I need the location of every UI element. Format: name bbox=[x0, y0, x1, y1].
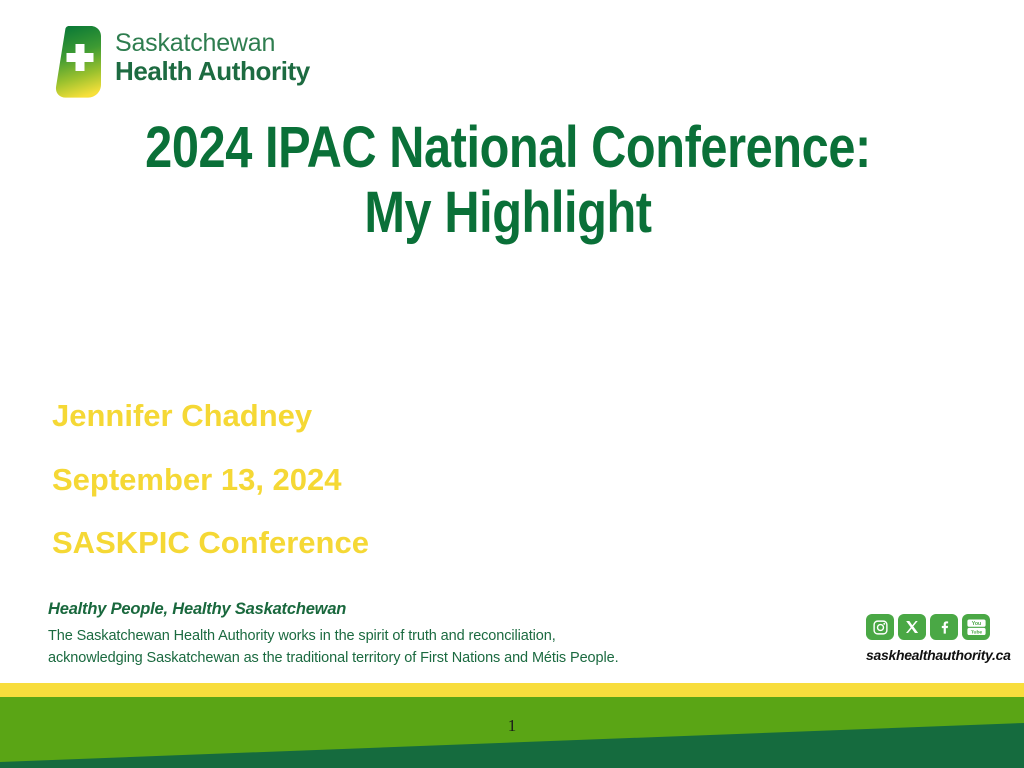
slide-canvas: Saskatchewan Health Authority 2024 IPAC … bbox=[0, 0, 1024, 768]
presenter-name: Jennifer Chadney bbox=[52, 384, 672, 448]
land-acknowledgement-line2: acknowledging Saskatchewan as the tradit… bbox=[48, 648, 708, 670]
logo-wordmark-line2: Health Authority bbox=[115, 57, 315, 85]
shield-cross-icon bbox=[55, 26, 103, 98]
organization-tagline: Healthy People, Healthy Saskatchewan bbox=[48, 598, 708, 620]
logo-wordmark: Saskatchewan Health Authority bbox=[115, 30, 315, 85]
logo-wordmark-line1: Saskatchewan bbox=[115, 30, 315, 57]
presenter-details: Jennifer Chadney September 13, 2024 SASK… bbox=[52, 384, 672, 575]
instagram-icon[interactable] bbox=[866, 614, 894, 640]
event-name: SASKPIC Conference bbox=[52, 511, 672, 575]
website-url[interactable]: saskhealthauthority.ca bbox=[866, 647, 1002, 663]
page-number: 1 bbox=[0, 716, 1024, 736]
footer-text-block: Healthy People, Healthy Saskatchewan The… bbox=[48, 598, 708, 670]
slide-title-line1: 2024 IPAC National Conference: bbox=[130, 116, 886, 181]
brand-logo: Saskatchewan Health Authority bbox=[55, 26, 315, 98]
slide-title: 2024 IPAC National Conference: My Highli… bbox=[130, 116, 886, 246]
facebook-icon[interactable] bbox=[930, 614, 958, 640]
presentation-date: September 13, 2024 bbox=[52, 448, 672, 512]
footer-yellow-band bbox=[0, 683, 1024, 697]
land-acknowledgement-line1: The Saskatchewan Health Authority works … bbox=[48, 626, 708, 648]
slide-title-line2: My Highlight bbox=[130, 181, 886, 246]
social-icon-row: You Tube bbox=[866, 614, 1002, 640]
social-and-website-block: You Tube saskhealthauthority.ca bbox=[866, 614, 1002, 663]
svg-text:You: You bbox=[971, 621, 980, 627]
x-twitter-icon[interactable] bbox=[898, 614, 926, 640]
svg-text:Tube: Tube bbox=[970, 629, 982, 635]
youtube-icon[interactable]: You Tube bbox=[962, 614, 990, 640]
